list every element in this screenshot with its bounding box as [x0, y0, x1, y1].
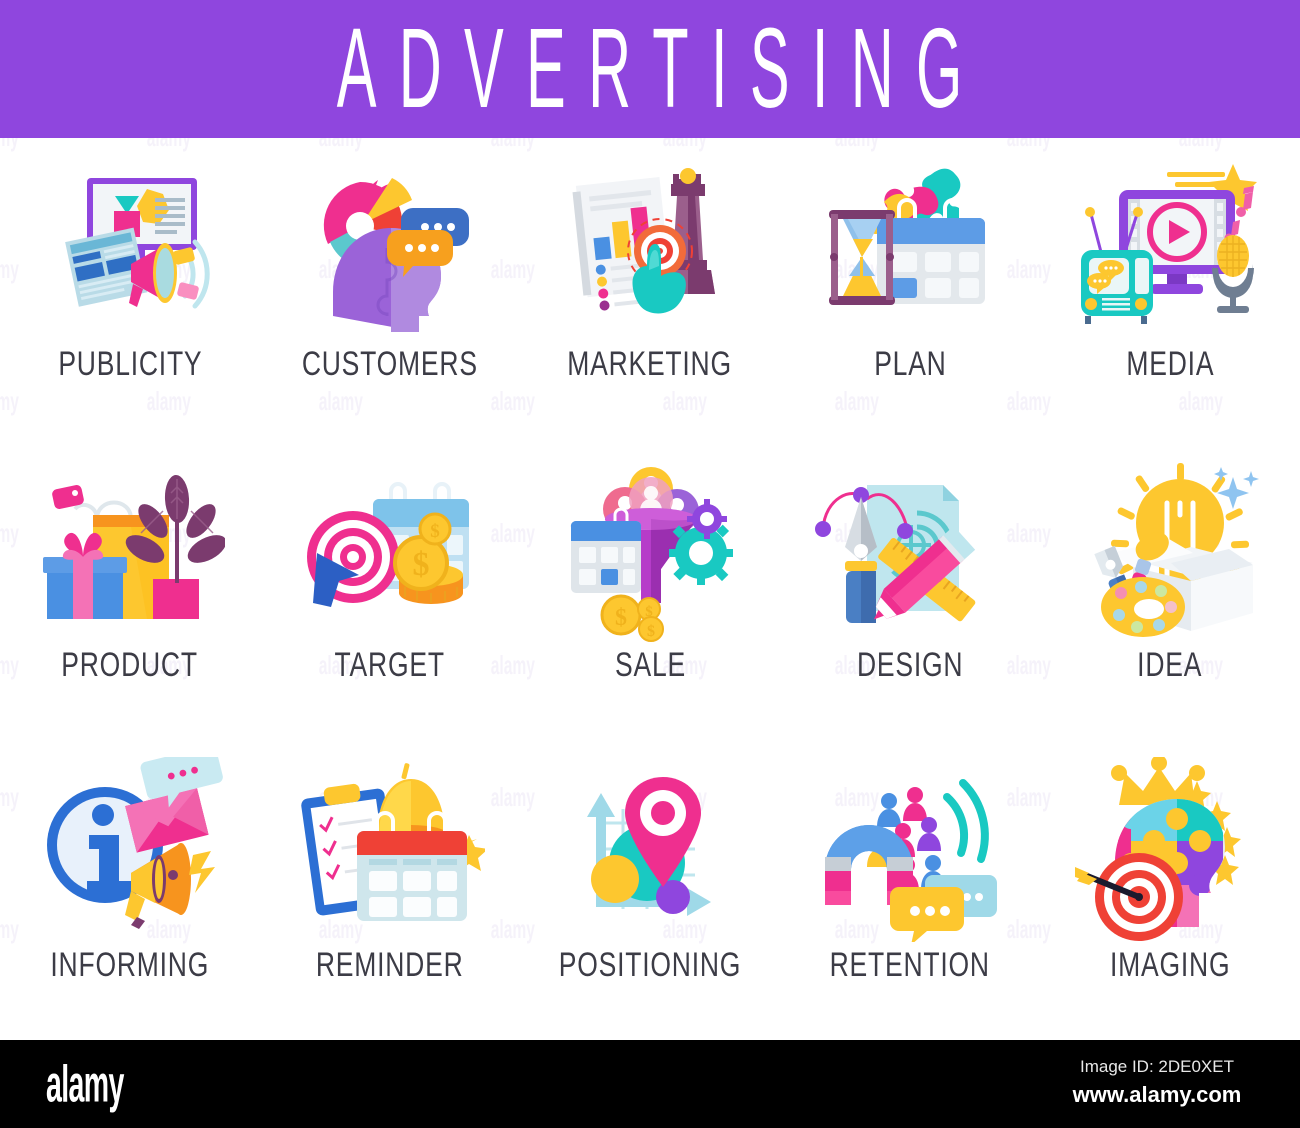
grid-cell-customers[interactable]: CUSTOMERS	[260, 138, 520, 439]
alamy-url[interactable]: www.alamy.com	[1032, 1080, 1282, 1111]
footer-bar: alamy Image ID: 2DE0XET www.alamy.com	[0, 1040, 1300, 1128]
grid-label: MEDIA	[1126, 347, 1214, 381]
grid-cell-reminder[interactable]: REMINDER	[260, 739, 520, 1040]
svg-text:$: $	[430, 521, 440, 542]
funnel-people-gears-coins-icon: $ $ $	[555, 457, 745, 642]
grid-cell-publicity[interactable]: PUBLICITY	[0, 138, 260, 439]
page-title: ADVERTISING	[315, 12, 985, 125]
grid-cell-positioning[interactable]: POSITIONING	[520, 739, 780, 1040]
puzzlehead-crown-target-arrow-icon	[1075, 757, 1265, 942]
clipboard-bell-calendar-icon	[295, 757, 485, 942]
shoppingbag-giftbox-plant-icon	[35, 457, 225, 642]
pentool-ruler-pencil-icon	[815, 457, 1005, 642]
grid-cell-target[interactable]: $ $ TARGET	[260, 439, 520, 740]
grid-cell-idea[interactable]: IDEA	[1040, 439, 1300, 740]
stock-image-page: alamyalamyalamyalamyalamyalamyalamyalamy…	[0, 0, 1300, 1128]
grid-label: CUSTOMERS	[302, 347, 478, 381]
grid-label: INFORMING	[51, 948, 210, 982]
grid-label: IDEA	[1137, 648, 1202, 682]
graph-mappin-circles-icon	[555, 757, 745, 942]
grid-cell-marketing[interactable]: MARKETING	[520, 138, 780, 439]
lightbulb-box-palette-icon	[1075, 457, 1265, 642]
magnet-people-speechbubbles-icon	[815, 757, 1005, 942]
svg-text:$: $	[413, 546, 430, 583]
grid-label: IMAGING	[1110, 948, 1230, 982]
grid-label: SALE	[615, 648, 686, 682]
grid-cell-product[interactable]: PRODUCT	[0, 439, 260, 740]
monitor-tv-microphone-icon	[1075, 156, 1265, 341]
grid-label: POSITIONING	[559, 948, 741, 982]
banner: ADVERTISING	[0, 0, 1300, 138]
grid-label: PUBLICITY	[58, 347, 202, 381]
grid-cell-informing[interactable]: INFORMING	[0, 739, 260, 1040]
grid-cell-sale[interactable]: $ $ $ SALE	[520, 439, 780, 740]
hourglass-calendar-puzzle-icon	[815, 156, 1005, 341]
billboard-newspaper-megaphone-icon	[35, 156, 225, 341]
alamy-logo[interactable]: alamy	[46, 1058, 124, 1110]
head-piechart-speechbubbles-icon	[295, 156, 485, 341]
grid-cell-plan[interactable]: PLAN	[780, 138, 1040, 439]
grid-cell-media[interactable]: MEDIA	[1040, 138, 1300, 439]
grid-label: MARKETING	[568, 347, 733, 381]
image-id-text: Image ID: 2DE0XET	[1032, 1054, 1282, 1080]
svg-text:$: $	[647, 623, 655, 640]
footer-meta: Image ID: 2DE0XET www.alamy.com	[1032, 1054, 1282, 1110]
grid-label: DESIGN	[857, 648, 963, 682]
grid-cell-design[interactable]: DESIGN	[780, 439, 1040, 740]
grid-label: REMINDER	[316, 948, 464, 982]
grid-label: PLAN	[874, 347, 946, 381]
grid-label: PRODUCT	[62, 648, 199, 682]
icon-grid: PUBLICITY	[0, 138, 1300, 1040]
grid-label: TARGET	[335, 648, 445, 682]
svg-text:$: $	[615, 605, 627, 631]
info-envelope-megaphone-icon	[35, 757, 225, 942]
grid-cell-imaging[interactable]: IMAGING	[1040, 739, 1300, 1040]
bullseye-cursor-calendar-coins-icon: $ $	[295, 457, 485, 642]
grid-cell-retention[interactable]: RETENTION	[780, 739, 1040, 1040]
document-chessrook-target-hand-icon	[555, 156, 745, 341]
grid-label: RETENTION	[830, 948, 990, 982]
